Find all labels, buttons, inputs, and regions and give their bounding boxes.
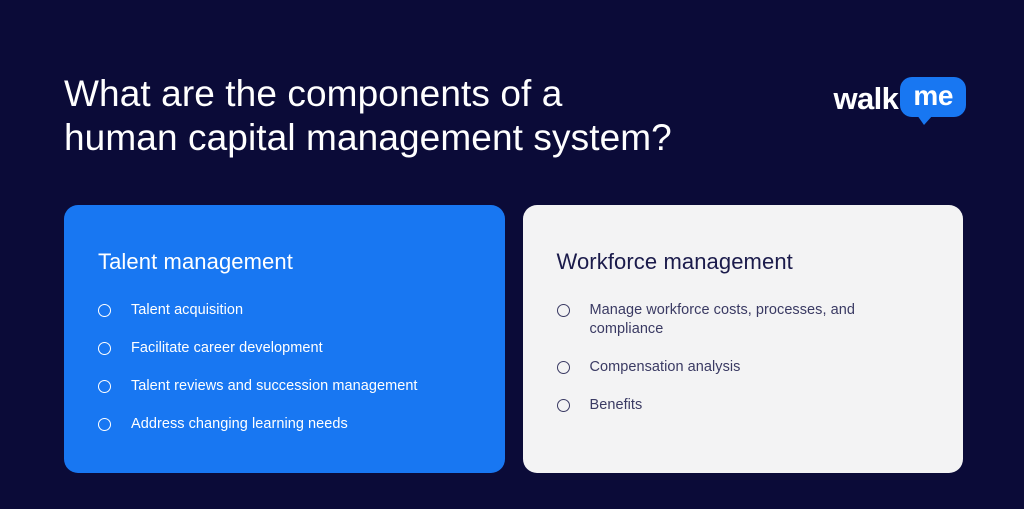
cards-container: Talent management Talent acquisition Fac… (64, 205, 963, 473)
list-item-label: Facilitate career development (131, 339, 323, 358)
logo-wordmark: walk (834, 83, 899, 114)
list-item: Talent reviews and succession management (98, 377, 471, 396)
card-title: Talent management (98, 249, 471, 275)
circle-bullet-icon (98, 342, 111, 355)
list-item-label: Address changing learning needs (131, 415, 348, 434)
list-item-label: Compensation analysis (590, 358, 741, 377)
list-item: Benefits (557, 396, 930, 415)
circle-bullet-icon (98, 380, 111, 393)
circle-bullet-icon (557, 304, 570, 317)
list-item: Manage workforce costs, processes, and c… (557, 301, 930, 339)
list-item-label: Benefits (590, 396, 643, 415)
list-item-label: Talent reviews and succession management (131, 377, 418, 396)
card-talent-management: Talent management Talent acquisition Fac… (64, 205, 505, 473)
workforce-management-list: Manage workforce costs, processes, and c… (557, 301, 930, 415)
infographic-canvas: What are the components of a human capit… (0, 0, 1024, 509)
walkme-logo: walk me (834, 74, 966, 120)
circle-bullet-icon (557, 399, 570, 412)
header: What are the components of a human capit… (64, 72, 966, 182)
circle-bullet-icon (98, 418, 111, 431)
card-workforce-management: Workforce management Manage workforce co… (523, 205, 964, 473)
circle-bullet-icon (98, 304, 111, 317)
list-item: Talent acquisition (98, 301, 471, 320)
speech-bubble-icon: me (900, 77, 966, 116)
list-item: Facilitate career development (98, 339, 471, 358)
circle-bullet-icon (557, 361, 570, 374)
talent-management-list: Talent acquisition Facilitate career dev… (98, 301, 471, 434)
list-item-label: Manage workforce costs, processes, and c… (590, 301, 930, 339)
logo-bubble-text: me (913, 81, 953, 111)
card-title: Workforce management (557, 249, 930, 275)
list-item: Address changing learning needs (98, 415, 471, 434)
list-item: Compensation analysis (557, 358, 930, 377)
page-title: What are the components of a human capit… (64, 72, 804, 160)
list-item-label: Talent acquisition (131, 301, 243, 320)
